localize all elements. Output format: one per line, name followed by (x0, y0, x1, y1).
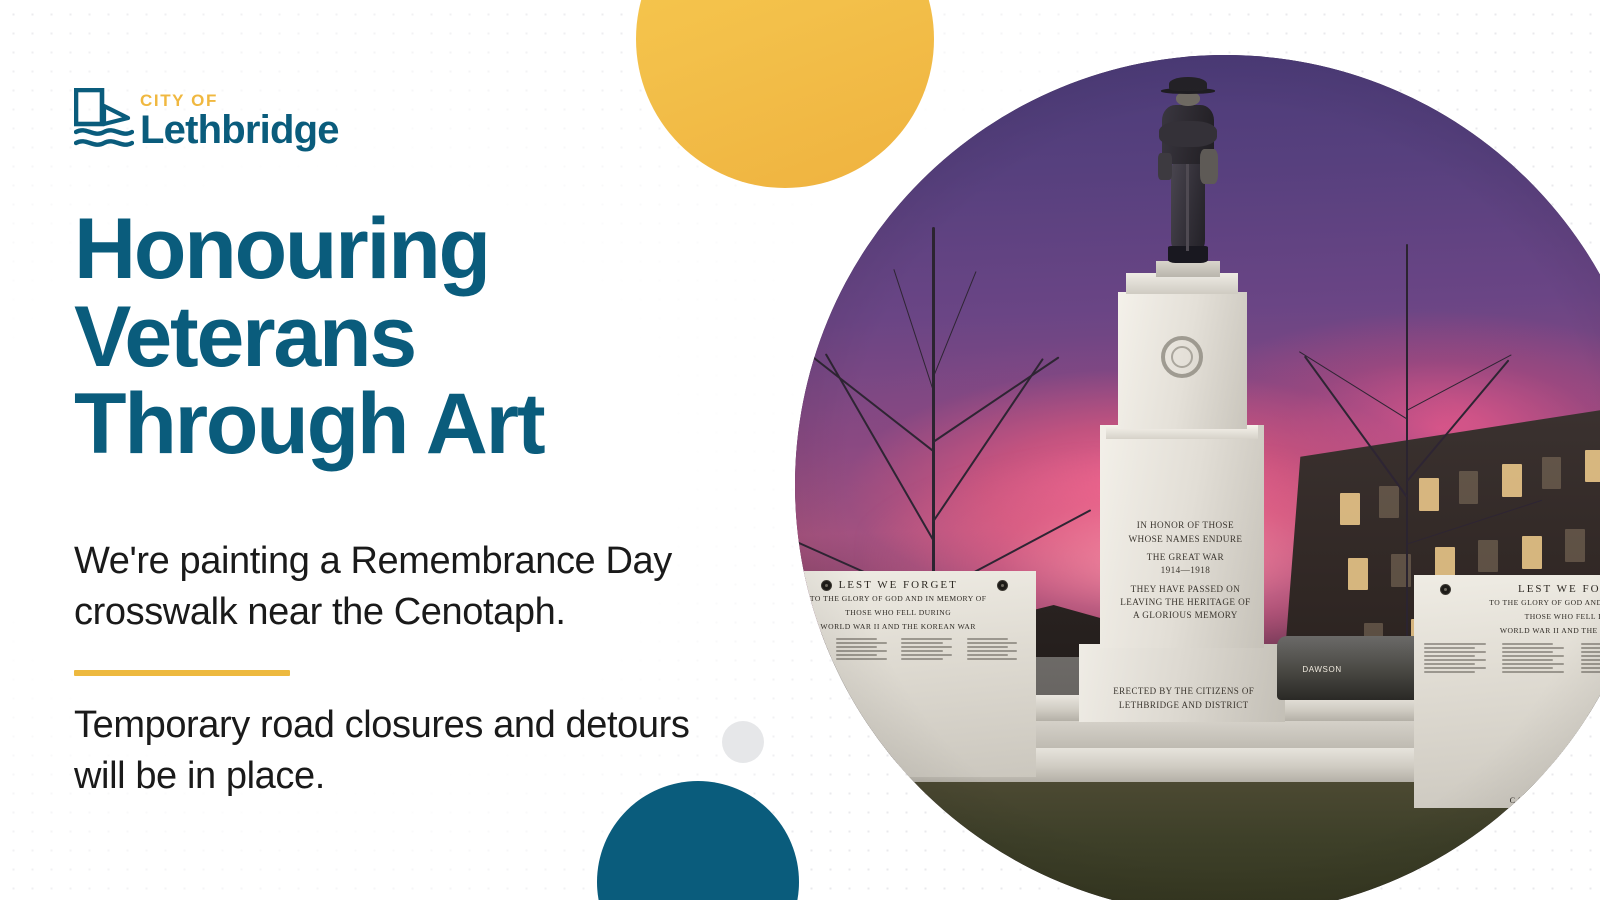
headline-line-2: Veterans (74, 294, 694, 382)
inscription-line-6: LEAVING THE HERITAGE OF (1120, 597, 1250, 607)
inscription-line-2: WHOSE NAMES ENDURE (1128, 534, 1242, 544)
lead-paragraph: We're painting a Remembrance Day crosswa… (74, 536, 734, 639)
headline-line-3: Through Art (74, 381, 694, 469)
plaque-line-1: TO THE GLORY OF GOD AND IN MEMORY OF (1414, 597, 1600, 609)
inscription-line-3: THE GREAT WAR (1147, 552, 1224, 562)
city-of-lethbridge-logo[interactable]: CITY OF Lethbridge (74, 88, 339, 150)
inscription-line-4: 1914—1918 (1161, 565, 1211, 575)
statue-arms (1159, 121, 1217, 147)
parked-vehicle-right (1277, 636, 1432, 701)
headline-line-1: Honouring (74, 206, 694, 294)
plaque-line-3: WORLD WAR II AND THE KOREAN WAR (795, 621, 1036, 633)
plaque-name-list (1414, 643, 1600, 673)
statue-pedestal (1156, 261, 1220, 277)
poster-canvas: ERECTED BY THE CITIZENS OF LETHBRIDGE AN… (0, 0, 1600, 900)
plaque-line-2: THOSE WHO FELL DURING (1414, 611, 1600, 623)
logo-wordmark: CITY OF Lethbridge (140, 92, 339, 150)
coulee-bridge-water-mark-icon (74, 88, 134, 150)
dedication-line-1: ERECTED BY THE CITIZENS OF (1113, 686, 1254, 696)
photo-scene: ERECTED BY THE CITIZENS OF LETHBRIDGE AN… (795, 55, 1600, 900)
statue-pack (1200, 149, 1219, 185)
cenotaph-dedication: ERECTED BY THE CITIZENS OF LETHBRIDGE AN… (1087, 685, 1280, 712)
cenotaph-inscription: IN HONOR OF THOSE WHOSE NAMES ENDURE THE… (1106, 519, 1264, 622)
inscription-line-1: IN HONOR OF THOSE (1137, 520, 1234, 530)
cenotaph-photo: ERECTED BY THE CITIZENS OF LETHBRIDGE AN… (795, 55, 1600, 900)
plaque-footer: CANADIAN PEACE KEEPERS (1414, 796, 1600, 805)
page-title: Honouring Veterans Through Art (74, 206, 694, 469)
statue-satchel (1158, 153, 1172, 181)
content-column: CITY OF Lethbridge Honouring Veterans Th… (74, 0, 774, 900)
logo-name: Lethbridge (140, 110, 339, 150)
dedication-line-2: LETHBRIDGE AND DISTRICT (1119, 700, 1249, 710)
plaque-line-2: THOSE WHO FELL DURING (795, 607, 1036, 619)
plaque-line-3: WORLD WAR II AND THE KOREAN WAR (1414, 625, 1600, 637)
soldier-statue (1152, 77, 1224, 275)
inscription-line-7: A GLORIOUS MEMORY (1133, 610, 1238, 620)
note-paragraph: Temporary road closures and detours will… (74, 700, 694, 803)
plaque-name-list (795, 638, 1036, 660)
logo-eyebrow: CITY OF (140, 92, 339, 109)
yellow-divider (74, 670, 290, 676)
inscription-line-5: THEY HAVE PASSED ON (1131, 584, 1241, 594)
memorial-plaque-right: LEST WE FORGET TO THE GLORY OF GOD AND I… (1414, 575, 1600, 807)
statue-helmet (1169, 77, 1207, 91)
vehicle-sign-label: DAWSON (1302, 665, 1341, 674)
plaque-line-1: TO THE GLORY OF GOD AND IN MEMORY OF (795, 593, 1036, 605)
memorial-plaque-left: LEST WE FORGET TO THE GLORY OF GOD AND I… (795, 571, 1036, 777)
